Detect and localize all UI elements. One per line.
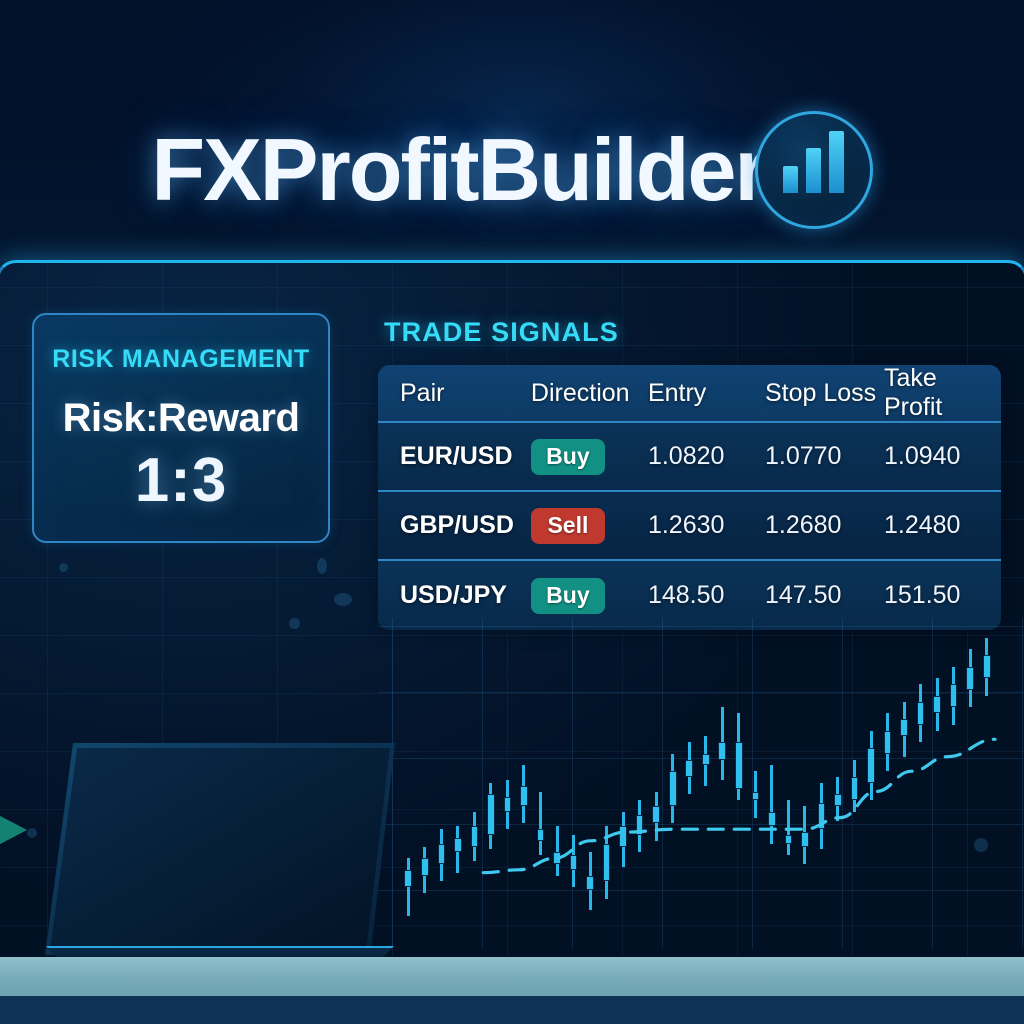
risk-reward-title: Risk:Reward: [34, 396, 328, 441]
cell-stop-loss: 1.0770: [765, 442, 884, 471]
desk-surface: [0, 957, 1024, 997]
logo-bar-2: [806, 148, 821, 193]
column-header-take-profit: Take Profit: [884, 365, 1001, 422]
decorative-speck: [59, 563, 68, 572]
laptop-icon: [45, 743, 395, 965]
logo-bar-3: [829, 131, 844, 193]
bar-chart-icon: [755, 111, 873, 229]
cell-direction: Sell: [531, 508, 648, 544]
trade-signals-table: Pair Direction Entry Stop Loss Take Prof…: [378, 365, 1001, 630]
column-header-entry: Entry: [648, 379, 765, 408]
table-header-row: Pair Direction Entry Stop Loss Take Prof…: [378, 365, 1001, 423]
cell-pair: GBP/USD: [400, 511, 531, 540]
decorative-speck: [27, 828, 37, 838]
column-header-stop-loss: Stop Loss: [765, 379, 884, 408]
column-header-direction: Direction: [531, 379, 648, 408]
cell-entry: 148.50: [648, 581, 765, 610]
cell-entry: 1.0820: [648, 442, 765, 471]
cell-entry: 1.2630: [648, 511, 765, 540]
bottom-stripe: [0, 996, 1024, 1024]
direction-badge: Buy: [531, 578, 605, 614]
cell-take-profit: 1.2480: [884, 511, 1001, 540]
trade-signals-heading: TRADE SIGNALS: [384, 317, 619, 348]
cell-stop-loss: 1.2680: [765, 511, 884, 540]
candlestick-chart: [378, 618, 1023, 948]
trendline: [378, 618, 1023, 948]
table-row[interactable]: GBP/USD Sell 1.2630 1.2680 1.2480: [378, 492, 1001, 561]
app-screenshot: FXProfitBuilder RISK MANAGEMENT Risk:Rew…: [0, 0, 1024, 1024]
logo-bar-1: [783, 166, 798, 193]
cell-direction: Buy: [531, 439, 648, 475]
cell-take-profit: 151.50: [884, 581, 1001, 610]
column-header-pair: Pair: [400, 379, 531, 408]
brand-row: FXProfitBuilder: [0, 100, 1024, 240]
laptop-lid-back: [50, 748, 390, 950]
cell-take-profit: 1.0940: [884, 442, 1001, 471]
direction-badge: Sell: [531, 508, 605, 544]
cell-direction: Buy: [531, 578, 648, 614]
risk-management-label: RISK MANAGEMENT: [34, 345, 328, 374]
table-row[interactable]: EUR/USD Buy 1.0820 1.0770 1.0940: [378, 423, 1001, 492]
decorative-speck: [289, 618, 300, 629]
main-dashboard-panel: RISK MANAGEMENT Risk:Reward 1:3 TRADE SI…: [0, 260, 1024, 1024]
decorative-speck: [334, 593, 352, 606]
risk-management-card: RISK MANAGEMENT Risk:Reward 1:3: [32, 313, 330, 543]
header-band: FXProfitBuilder: [0, 0, 1024, 262]
cell-pair: EUR/USD: [400, 442, 531, 471]
cell-pair: USD/JPY: [400, 581, 531, 610]
risk-reward-ratio: 1:3: [34, 445, 328, 516]
accent-triangle: [0, 808, 27, 852]
cell-stop-loss: 147.50: [765, 581, 884, 610]
brand-title: FXProfitBuilder: [151, 126, 766, 214]
decorative-speck: [317, 558, 327, 574]
direction-badge: Buy: [531, 439, 605, 475]
